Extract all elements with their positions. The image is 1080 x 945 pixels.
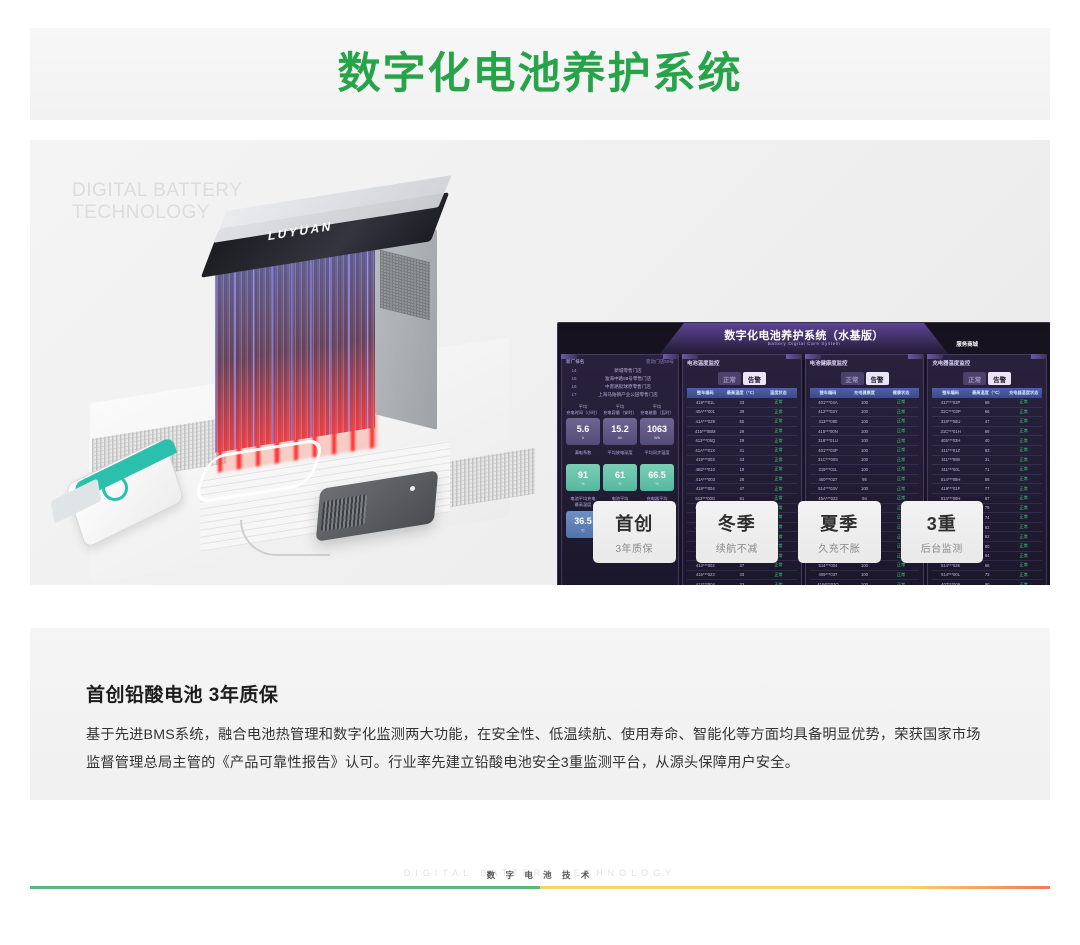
vehicle-code-cell: 413***080: [810, 417, 847, 427]
feature-badge-subtitle: 久充不胀: [818, 540, 860, 555]
status-cell: 正常: [883, 455, 920, 465]
metric-value-cell: 100: [846, 417, 883, 427]
metric-value-cell: 100: [846, 465, 883, 475]
panel-corner-left: [682, 354, 698, 359]
metric-value-cell: 19: [724, 465, 761, 475]
vehicle-code-cell: 514***00L: [932, 570, 969, 580]
vehicle-code-cell: 401***03P: [810, 445, 847, 455]
status-filter-toggle: 正常告警: [810, 372, 920, 385]
vehicle-code-cell: 415***0BM: [687, 426, 724, 436]
table-column-header[interactable]: 整车编码: [687, 388, 724, 398]
title-band: 数字化电池养护系统: [30, 28, 1050, 120]
table-header-row: 整车编码最高温度（℃）温度状态: [687, 388, 797, 398]
metric-value-cell: 47: [724, 484, 761, 494]
metric-value-cell: 66: [969, 407, 1006, 417]
monitoring-table-title: 电池健康度监控: [810, 359, 920, 367]
vehicle-code-cell: 31C***03P: [932, 407, 969, 417]
vehicle-code-cell: 415***023: [687, 570, 724, 580]
vehicle-code-cell: 41A***003: [687, 474, 724, 484]
kpi-card: 平均 充电能量（瓦时）1063Wh: [640, 404, 674, 445]
status-cell: 正常: [1005, 465, 1042, 475]
vehicle-code-cell: 415***00N: [810, 426, 847, 436]
table-row[interactable]: 318***06U47正常: [932, 417, 1042, 427]
store-rank-index: 14: [566, 367, 582, 375]
feature-badge-subtitle: 后台监测: [921, 540, 963, 555]
kpi-row-ratios: 满电系数91%平均放电深度61%平均同步温度66.5%: [566, 450, 674, 491]
table-row[interactable]: 41A***00328正常: [687, 474, 797, 484]
vehicle-code-cell: 419***003: [687, 455, 724, 465]
status-cell: 正常: [1005, 493, 1042, 503]
metric-value-cell: 58: [969, 474, 1006, 484]
vehicle-code-cell: 411***088: [932, 455, 969, 465]
feature-badge: 冬季续航不减: [696, 501, 779, 563]
metric-value-cell: 100: [846, 398, 883, 407]
panel-corner-left: [561, 354, 577, 359]
vehicle-code-cell: 418***004: [687, 484, 724, 494]
table-row[interactable]: 419***00343正常: [687, 455, 797, 465]
metric-value-cell: 33: [724, 580, 761, 585]
table-row[interactable]: 31C***01H66正常: [932, 426, 1042, 436]
kpi-unit: ℃: [581, 528, 585, 533]
kpi-unit: %: [655, 482, 658, 486]
vehicle-code-cell: 514***05H: [932, 474, 969, 484]
filter-alarm-button[interactable]: 告警: [988, 372, 1011, 385]
store-ranking-list: 14新城零售门店15淮海中路98号零售门店16中客路街球原零售门店17上海马陆镇…: [566, 367, 674, 399]
status-cell: 正常: [883, 484, 920, 494]
metric-value-cell: 29: [724, 426, 761, 436]
kpi-card: 平均同步温度66.5%: [640, 450, 674, 491]
dashboard-service-mall-label[interactable]: 服务商城: [956, 340, 978, 348]
kpi-label: 平均同步温度: [640, 450, 674, 462]
metric-value-cell: 100: [846, 426, 883, 436]
vehicle-code-cell: 401***04A: [810, 398, 847, 407]
filter-normal-button[interactable]: 正常: [718, 372, 741, 385]
table-column-header[interactable]: 整车编码: [810, 388, 847, 398]
vehicle-code-cell: 41W***03Q: [810, 580, 847, 585]
table-row[interactable]: 419***01F77正常: [932, 484, 1042, 494]
vehicle-code-cell: 41A***01X: [687, 445, 724, 455]
metric-value-cell: 100: [846, 455, 883, 465]
vehicle-code-cell: 412***03Y: [810, 407, 847, 417]
status-cell: 正常: [1005, 532, 1042, 542]
status-cell: 正常: [1005, 570, 1042, 580]
table-row[interactable]: 41A***01X41正常: [687, 445, 797, 455]
feature-badge: 夏季久充不胀: [798, 501, 881, 563]
store-rank-name: 新城零售门店: [582, 367, 674, 375]
footer-bar-green: [30, 886, 540, 889]
status-cell: 正常: [760, 417, 797, 427]
metric-value-cell: 71: [969, 465, 1006, 475]
page-root: 数字化电池养护系统 DIGITAL BATTERY TECHNOLOGY LUY…: [0, 0, 1080, 945]
metric-value-cell: 100: [846, 580, 883, 585]
metric-value-cell: 55: [724, 417, 761, 427]
kpi-label: 满电系数: [566, 450, 600, 462]
kpi-label: 平均 充电时间（小时）: [566, 404, 600, 416]
status-cell: 正常: [1005, 503, 1042, 513]
kpi-value: 36.5: [574, 517, 592, 526]
footer-chinese-text: 数 字 电 池 技 术: [30, 869, 1050, 881]
feature-badge-title: 冬季: [718, 510, 756, 536]
table-row[interactable]: 412***B0433正常: [687, 580, 797, 585]
vehicle-code-cell: 450***027: [810, 474, 847, 484]
store-ranking-header: 新广排名 变动门店50号: [566, 359, 674, 365]
metric-value-cell: 77: [969, 484, 1006, 494]
table-row[interactable]: 4B2***01019正常: [687, 465, 797, 475]
metric-value-cell: 43: [724, 455, 761, 465]
vehicle-code-cell: 31C***01H: [932, 426, 969, 436]
vehicle-code-cell: 411***00L: [932, 465, 969, 475]
kpi-card: 平均 充电时间（小时）5.6h: [566, 404, 600, 445]
kpi-value: 1063: [647, 425, 667, 434]
status-cell: 正常: [1005, 417, 1042, 427]
panel-corner-right: [786, 354, 802, 359]
vehicle-code-cell: 514***03V: [810, 484, 847, 494]
status-cell: 正常: [883, 426, 920, 436]
vehicle-code-cell: 413***05Q: [687, 436, 724, 446]
store-rank-name: 中客路街球原零售门店: [582, 383, 674, 391]
status-cell: 正常: [883, 474, 920, 484]
feature-badge-title: 夏季: [820, 510, 858, 536]
description-heading: 首创铅酸电池 3年质保: [86, 680, 994, 707]
vehicle-code-cell: 318***06U: [932, 417, 969, 427]
store-rank-index: 17: [566, 391, 582, 399]
table-row[interactable]: 31C***00S100正常: [810, 455, 920, 465]
vehicle-code-cell: 409***037: [810, 570, 847, 580]
metric-value-cell: 100: [846, 570, 883, 580]
store-rank-index: 15: [566, 375, 582, 383]
kpi-value-box: 66.5%: [640, 464, 674, 491]
metric-value-cell: 47: [969, 417, 1006, 427]
metric-value-cell: 41: [724, 445, 761, 455]
store-ranking-subtitle: 变动门店50号: [646, 359, 674, 365]
feature-badges: 首创3年质保冬季续航不减夏季久充不胀3重后台监测: [593, 501, 983, 563]
kpi-label: 平均 充电能量（瓦时）: [640, 404, 674, 416]
table-column-header[interactable]: 最高温度（℃）: [969, 388, 1006, 398]
status-cell: 正常: [1005, 398, 1042, 407]
status-cell: 正常: [883, 570, 920, 580]
kpi-unit: %: [618, 482, 621, 486]
table-row[interactable]: 411***00L71正常: [932, 465, 1042, 475]
store-ranking-row[interactable]: 15淮海中路98号零售门店: [566, 375, 674, 383]
vehicle-code-cell: 407***009: [932, 580, 969, 585]
status-cell: 正常: [883, 580, 920, 585]
status-cell: 正常: [1005, 426, 1042, 436]
status-cell: 正常: [1005, 407, 1042, 417]
status-cell: 正常: [1005, 580, 1042, 585]
metric-value-cell: 100: [846, 445, 883, 455]
description-body: 基于先进BMS系统，融合电池热管理和数字化监测两大功能，在安全性、低温续航、使用…: [86, 721, 994, 778]
panel-corner-right: [908, 354, 924, 359]
status-cell: 正常: [1005, 522, 1042, 532]
status-cell: 正常: [760, 426, 797, 436]
metric-value-cell: 40: [969, 436, 1006, 446]
table-row[interactable]: 41W***03Q100正常: [810, 580, 920, 585]
feature-badge: 首创3年质保: [593, 501, 676, 563]
monitoring-table-title: 充电器温度监控: [932, 359, 1042, 367]
status-cell: 正常: [1005, 445, 1042, 455]
feature-badge-title: 首创: [615, 510, 653, 536]
description-block: 首创铅酸电池 3年质保 基于先进BMS系统，融合电池热管理和数字化监测两大功能，…: [30, 628, 1050, 800]
store-ranking-row[interactable]: 16中客路街球原零售门店: [566, 383, 674, 391]
status-cell: 正常: [883, 407, 920, 417]
vehicle-code-cell: 318***01U: [810, 436, 847, 446]
store-ranking-title: 新广排名: [566, 359, 584, 365]
status-cell: 正常: [883, 417, 920, 427]
table-row[interactable]: 417***03P69正常: [932, 398, 1042, 407]
status-cell: 正常: [760, 407, 797, 417]
table-row[interactable]: 415***00N100正常: [810, 426, 920, 436]
store-rank-name: 上海马陆镇产业公园零售门店: [582, 391, 674, 399]
status-cell: 正常: [1005, 513, 1042, 523]
table-row[interactable]: 419***01L33正常: [687, 398, 797, 407]
status-cell: 正常: [760, 580, 797, 585]
status-cell: 正常: [883, 398, 920, 407]
page-title: 数字化电池养护系统: [338, 53, 743, 96]
table-column-header[interactable]: 温度状态: [760, 388, 797, 398]
panel-corner-left: [805, 354, 821, 359]
page-footer: DIGITAL BATTERY TECHNOLOGY 数 字 电 池 技 术: [30, 868, 1050, 902]
table-row[interactable]: 319***01L100正常: [810, 465, 920, 475]
status-cell: 正常: [1005, 436, 1042, 446]
metric-value-cell: 100: [846, 407, 883, 417]
vehicle-code-cell: 419***01F: [932, 484, 969, 494]
status-cell: 正常: [1005, 561, 1042, 571]
table-row[interactable]: 318***01U100正常: [810, 436, 920, 446]
feature-badge-subtitle: 3年质保: [615, 540, 653, 555]
kpi-card: 平均放电深度61%: [603, 450, 637, 491]
filter-alarm-button[interactable]: 告警: [866, 372, 889, 385]
table-row[interactable]: 514***00L73正常: [932, 570, 1042, 580]
metric-value-cell: 69: [969, 398, 1006, 407]
kpi-value-box: 15.2Ah: [603, 418, 637, 445]
table-column-header[interactable]: 健康状态: [883, 388, 920, 398]
vehicle-code-cell: 417***03P: [932, 398, 969, 407]
metric-value-cell: 33: [724, 570, 761, 580]
kpi-value-box: 5.6h: [566, 418, 600, 445]
status-cell: 正常: [1005, 474, 1042, 484]
kpi-value: 66.5: [648, 471, 666, 480]
status-filter-toggle: 正常告警: [687, 372, 797, 385]
kpi-value: 61: [615, 471, 625, 480]
feature-badge-title: 3重: [927, 510, 957, 536]
table-row[interactable]: 409***037100正常: [810, 570, 920, 580]
table-row[interactable]: 514***03V100正常: [810, 484, 920, 494]
panel-corner-right: [663, 354, 679, 359]
kpi-row-charging: 平均 充电时间（小时）5.6h平均 充电容量（安时）15.2Ah平均 充电能量（…: [566, 404, 674, 445]
kpi-value: 91: [578, 471, 588, 480]
status-cell: 正常: [883, 436, 920, 446]
kpi-unit: %: [581, 482, 584, 486]
status-cell: 正常: [760, 445, 797, 455]
table-row[interactable]: 411***01Z63正常: [932, 445, 1042, 455]
kpi-value-box: 61%: [603, 464, 637, 491]
table-row[interactable]: 514***05H58正常: [932, 474, 1042, 484]
kpi-label: 平均放电深度: [603, 450, 637, 462]
table-row[interactable]: 413***05Q29正常: [687, 436, 797, 446]
table-header-row: 整车编码最高温度（℃）充电器温度状态: [932, 388, 1042, 398]
table-row[interactable]: 31C***03P66正常: [932, 407, 1042, 417]
vehicle-code-cell: 41A***029: [687, 417, 724, 427]
metric-value-cell: 73: [969, 570, 1006, 580]
metric-value-cell: 100: [846, 436, 883, 446]
status-cell: 正常: [1005, 551, 1042, 561]
kpi-card: 平均 充电容量（安时）15.2Ah: [603, 404, 637, 445]
status-cell: 正常: [760, 484, 797, 494]
kpi-label: 平均 充电容量（安时）: [603, 404, 637, 416]
table-row[interactable]: 401***04A100正常: [810, 398, 920, 407]
table-row[interactable]: 405***03H40正常: [932, 436, 1042, 446]
vehicle-code-cell: 405***03H: [932, 436, 969, 446]
status-cell: 正常: [760, 570, 797, 580]
vehicle-code-cell: 319***01L: [810, 465, 847, 475]
metric-value-cell: 31: [969, 455, 1006, 465]
table-row[interactable]: 413***080100正常: [810, 417, 920, 427]
table-row[interactable]: 412***03Y100正常: [810, 407, 920, 417]
kpi-card: 满电系数91%: [566, 450, 600, 491]
vehicle-code-cell: 412***B04: [687, 580, 724, 585]
feature-badge-subtitle: 续航不减: [716, 540, 758, 555]
kpi-unit: Wh: [654, 436, 660, 440]
filter-normal-button[interactable]: 正常: [963, 372, 986, 385]
panel-corner-right: [1031, 354, 1047, 359]
metric-value-cell: 63: [969, 445, 1006, 455]
kpi-unit: h: [582, 436, 584, 440]
table-header-row: 整车编码充电健康度健康状态: [810, 388, 920, 398]
filter-normal-button[interactable]: 正常: [841, 372, 864, 385]
table-row[interactable]: 415***0BM29正常: [687, 426, 797, 436]
footer-color-bar: [30, 886, 1050, 889]
store-ranking-row[interactable]: 17上海马陆镇产业公园零售门店: [566, 391, 674, 399]
vehicle-code-cell: 4B2***010: [687, 465, 724, 475]
table-column-header[interactable]: 充电器温度状态: [1005, 388, 1042, 398]
filter-alarm-button[interactable]: 告警: [743, 372, 766, 385]
table-row[interactable]: 407***00990正常: [932, 580, 1042, 585]
store-rank-index: 16: [566, 383, 582, 391]
table-row[interactable]: 411***08831正常: [932, 455, 1042, 465]
feature-badge: 3重后台监测: [901, 501, 984, 563]
status-cell: 正常: [760, 474, 797, 484]
vehicle-code-cell: 411***01Z: [932, 445, 969, 455]
table-row[interactable]: 401***03P100正常: [810, 445, 920, 455]
metric-value-cell: 66: [969, 426, 1006, 436]
kpi-value-box: 91%: [566, 464, 600, 491]
kpi-value: 15.2: [611, 425, 629, 434]
status-cell: 正常: [883, 465, 920, 475]
table-column-header[interactable]: 充电健康度: [846, 388, 883, 398]
table-row[interactable]: 41A***02955正常: [687, 417, 797, 427]
status-cell: 正常: [1005, 541, 1042, 551]
vehicle-code-cell: 31C***00S: [810, 455, 847, 465]
metric-value-cell: 29: [724, 436, 761, 446]
kpi-unit: Ah: [618, 436, 623, 440]
battery-product-illustration: LUYUAN: [50, 160, 540, 570]
table-column-header[interactable]: 最高温度（℃）: [724, 388, 761, 398]
table-row[interactable]: 418***00447正常: [687, 484, 797, 494]
status-cell: 正常: [760, 455, 797, 465]
vehicle-code-cell: 40A***001: [687, 407, 724, 417]
kpi-value-box: 1063Wh: [640, 418, 674, 445]
status-filter-toggle: 正常告警: [932, 372, 1042, 385]
panel-corner-left: [927, 354, 943, 359]
monitoring-table-title: 电池温度监控: [687, 359, 797, 367]
status-cell: 正常: [1005, 484, 1042, 494]
status-cell: 正常: [760, 398, 797, 407]
kpi-value: 5.6: [577, 425, 590, 434]
metric-value-cell: 28: [724, 474, 761, 484]
table-row[interactable]: 450***02795正常: [810, 474, 920, 484]
status-cell: 正常: [1005, 455, 1042, 465]
status-cell: 正常: [883, 445, 920, 455]
vehicle-code-cell: 419***01L: [687, 398, 724, 407]
status-cell: 正常: [760, 465, 797, 475]
table-column-header[interactable]: 整车编码: [932, 388, 969, 398]
metric-value-cell: 95: [846, 474, 883, 484]
table-row[interactable]: 415***02333正常: [687, 570, 797, 580]
metric-value-cell: 90: [969, 580, 1006, 585]
store-rank-name: 淮海中路98号零售门店: [582, 375, 674, 383]
table-row[interactable]: 40A***00139正常: [687, 407, 797, 417]
metric-value-cell: 33: [724, 398, 761, 407]
store-ranking-row[interactable]: 14新城零售门店: [566, 367, 674, 375]
battery-vent-grille: [380, 250, 430, 320]
footer-bar-warm: [540, 886, 1050, 889]
status-cell: 正常: [760, 436, 797, 446]
metric-value-cell: 39: [724, 407, 761, 417]
metric-value-cell: 100: [846, 484, 883, 494]
